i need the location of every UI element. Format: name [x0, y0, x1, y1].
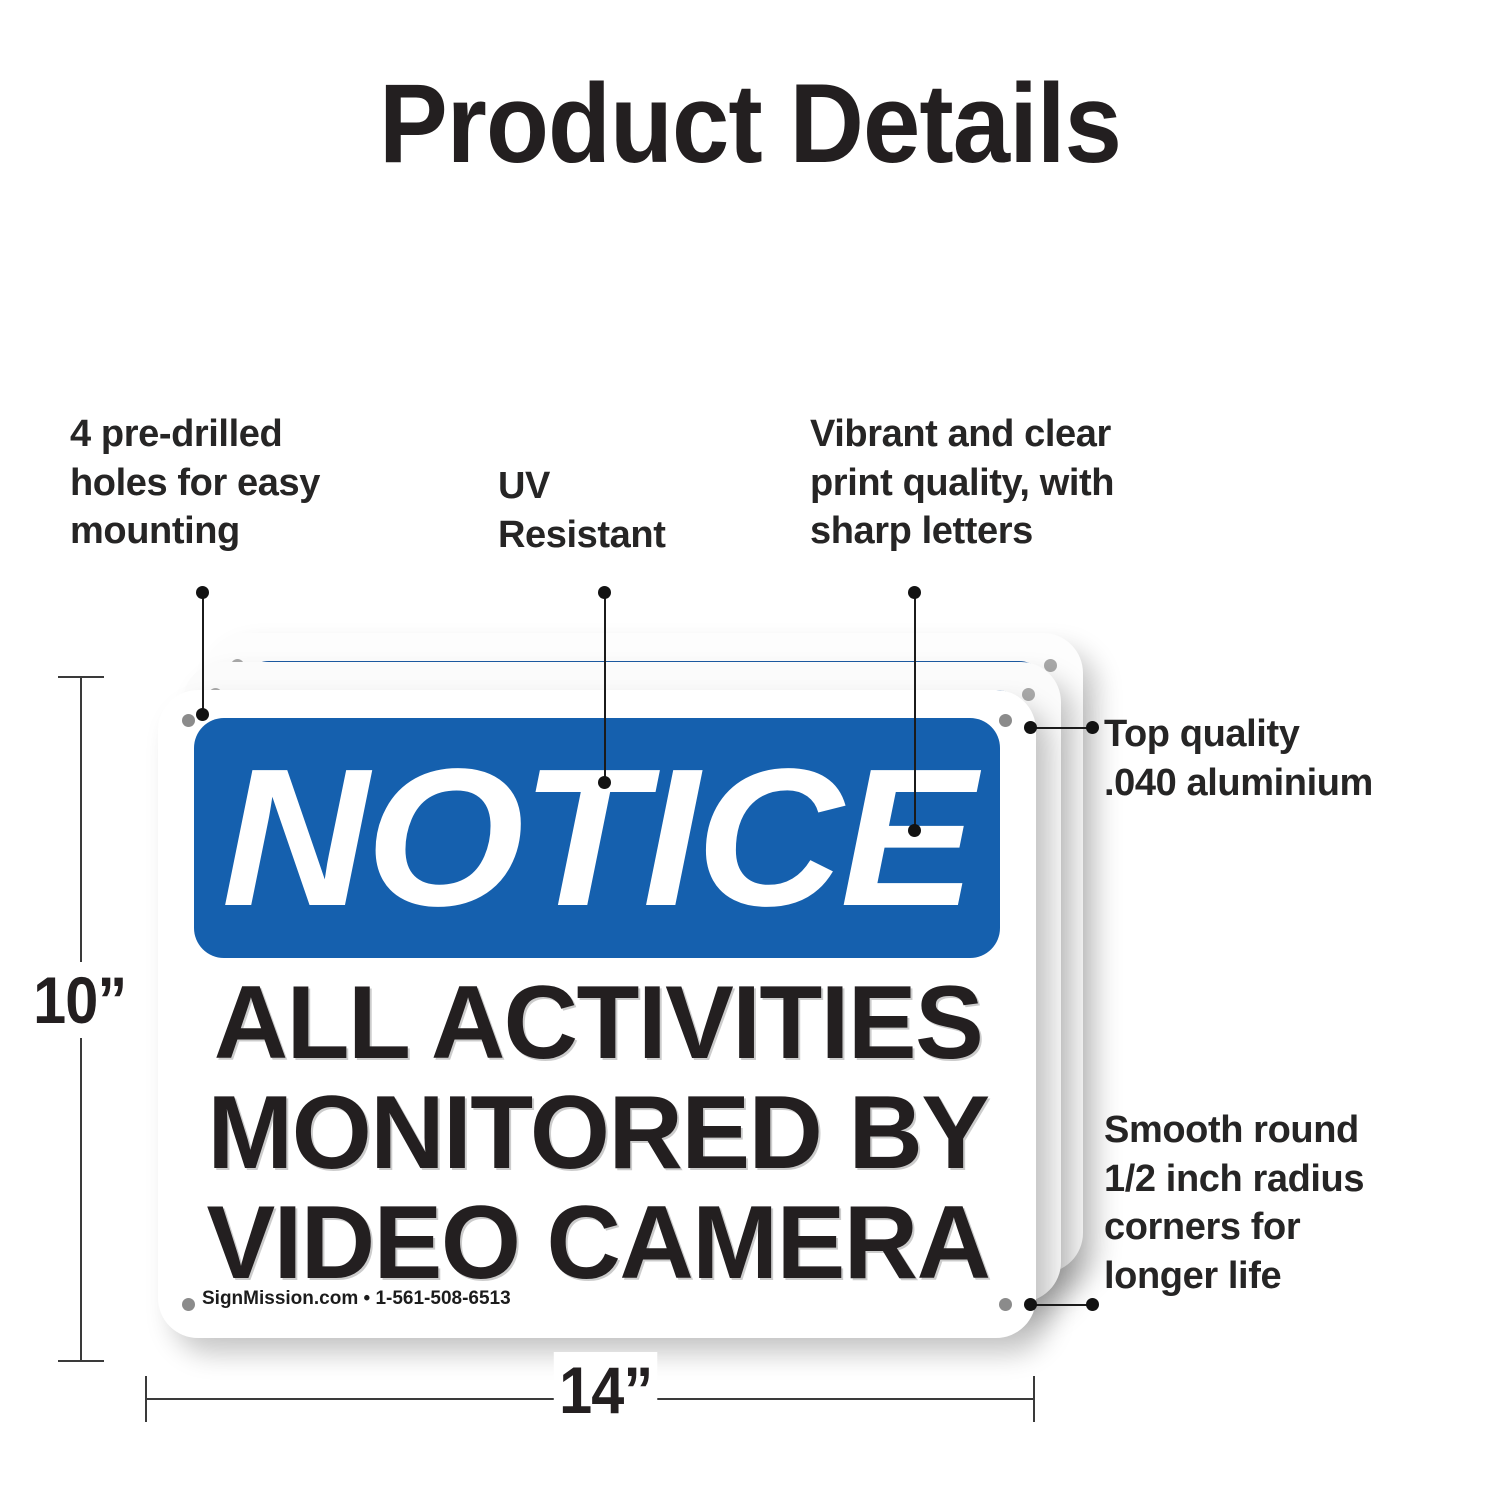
callout-print-quality: Vibrant and clear print quality, with sh…	[810, 410, 1260, 556]
notice-banner: NOTICE	[194, 718, 1000, 958]
mounting-hole-top-right	[999, 714, 1012, 727]
mounting-hole-bottom-left	[182, 1298, 195, 1311]
leader-line-aluminium	[1030, 727, 1092, 729]
leader-dot-start	[1024, 721, 1037, 734]
leader-dot-top	[598, 586, 611, 599]
sign-body-line-2: MONITORED BY	[182, 1078, 1014, 1188]
dimension-label-height: 10”	[28, 962, 132, 1038]
leader-line-round-corners	[1030, 1304, 1092, 1306]
leader-dot-end	[908, 824, 921, 837]
callout-pre-drilled-holes: 4 pre-drilled holes for easy mounting	[70, 410, 470, 556]
mounting-hole	[1022, 688, 1035, 701]
dimension-cap-bottom	[58, 1360, 104, 1362]
mounting-hole-top-left	[182, 714, 195, 727]
page-title: Product Details	[60, 62, 1440, 185]
dimension-label-width: 14”	[554, 1352, 658, 1428]
leader-line-pre-drilled-holes	[202, 592, 204, 714]
notice-banner-text: NOTICE	[221, 740, 972, 936]
sign-front-face: NOTICE ALL ACTIVITIES MONITORED BY VIDEO…	[158, 690, 1036, 1338]
leader-dot-end	[1086, 721, 1099, 734]
sign-body-line-1: ALL ACTIVITIES	[182, 968, 1014, 1078]
leader-line-uv-resistant	[604, 592, 606, 782]
leader-dot-end	[196, 708, 209, 721]
mounting-hole-bottom-right	[999, 1298, 1012, 1311]
leader-dot-start	[1024, 1298, 1037, 1311]
sign-body-line-3: VIDEO CAMERA	[182, 1188, 1014, 1298]
leader-dot-end	[598, 776, 611, 789]
sign-body-text: ALL ACTIVITIES MONITORED BY VIDEO CAMERA	[178, 968, 1018, 1299]
leader-line-print-quality	[914, 592, 916, 830]
leader-dot-top	[908, 586, 921, 599]
callout-aluminium: Top quality .040 aluminium	[1104, 710, 1500, 807]
callout-uv-resistant: UV Resistant	[498, 462, 758, 559]
dimension-cap-right	[1033, 1376, 1035, 1422]
callout-round-corners: Smooth round 1/2 inch radius corners for…	[1104, 1106, 1500, 1301]
leader-dot-end	[1086, 1298, 1099, 1311]
leader-dot-top	[196, 586, 209, 599]
sign-footer-text: SignMission.com • 1-561-508-6513	[202, 1288, 511, 1310]
product-details-infographic: Product Details 4 pre-drilled holes for …	[0, 0, 1500, 1500]
